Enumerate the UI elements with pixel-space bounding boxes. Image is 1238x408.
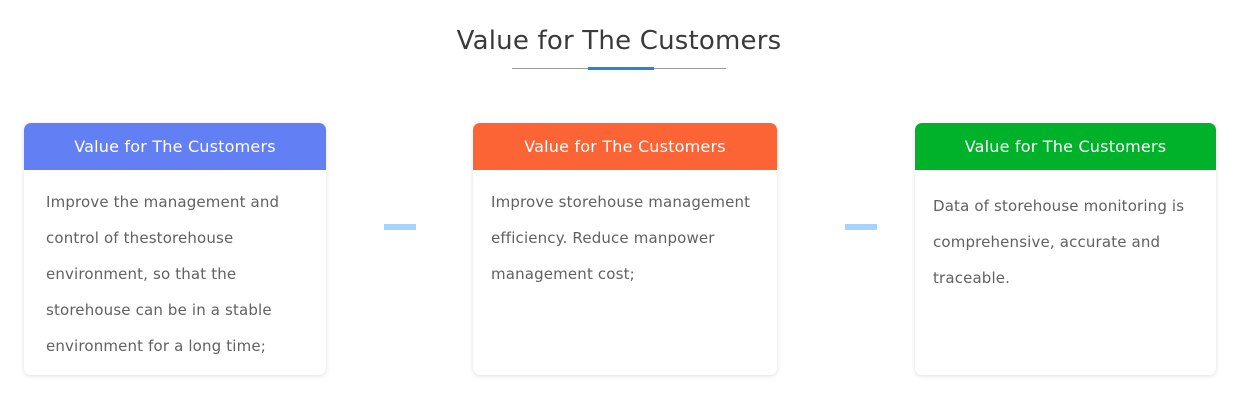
value-card-1-header: Value for The Customers bbox=[24, 123, 326, 170]
page-title-block: Value for The Customers bbox=[0, 24, 1238, 70]
title-rule-accent bbox=[588, 67, 654, 70]
value-card-1[interactable]: Value for The Customers Improve the mana… bbox=[24, 123, 326, 375]
value-card-3-body: Data of storehouse monitoring is compreh… bbox=[915, 170, 1216, 296]
connector-dash-2 bbox=[845, 224, 877, 230]
value-card-1-body: Improve the management and control of th… bbox=[24, 170, 326, 364]
value-card-3[interactable]: Value for The Customers Data of storehou… bbox=[915, 123, 1216, 375]
title-underline-rule bbox=[512, 67, 726, 70]
value-card-3-header: Value for The Customers bbox=[915, 123, 1216, 170]
connector-dash-1 bbox=[384, 224, 416, 230]
value-card-2-header: Value for The Customers bbox=[473, 123, 777, 170]
page-title: Value for The Customers bbox=[0, 24, 1238, 58]
value-card-2-body: Improve storehouse management efficiency… bbox=[473, 170, 777, 292]
value-card-2[interactable]: Value for The Customers Improve storehou… bbox=[473, 123, 777, 375]
